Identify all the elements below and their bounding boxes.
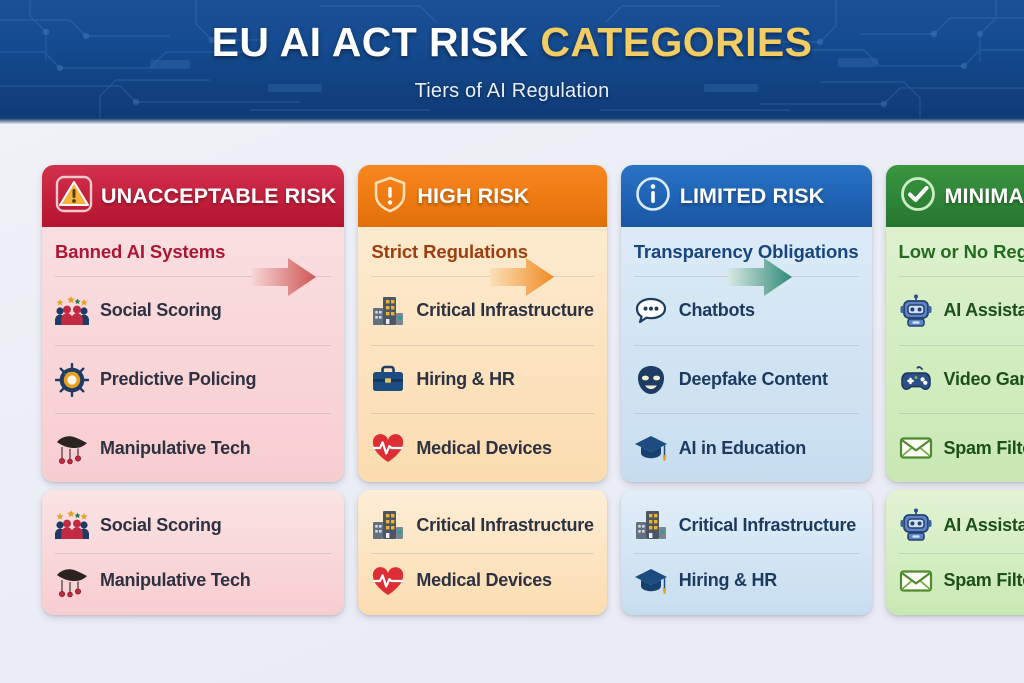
- risk-subcard-unacceptable[interactable]: Social Scoring Manipulative Tech: [42, 490, 344, 615]
- list-item[interactable]: Deepfake Content: [634, 345, 859, 414]
- list-item-label: Social Scoring: [100, 515, 222, 536]
- risk-header-band-high: HIGH RISK: [358, 165, 606, 227]
- list-item[interactable]: Video Games: [899, 345, 1024, 414]
- risk-columns-grid: UNACCEPTABLE RISKBanned AI Systems Socia…: [42, 165, 994, 615]
- briefcase-icon: [371, 363, 405, 397]
- risk-subcard-minimal[interactable]: AI Assistants Spam Filters: [886, 490, 1024, 615]
- risk-level-label: UNACCEPTABLE RISK: [101, 184, 336, 209]
- regulation-subheading: Transparency Obligations: [634, 227, 859, 276]
- shield-exclamation-icon: [370, 174, 410, 214]
- list-item[interactable]: AI Assistants: [899, 498, 1024, 553]
- list-item-label: Hiring & HR: [416, 369, 514, 390]
- list-item-label: Hiring & HR: [679, 570, 777, 591]
- mask-icon: [634, 363, 668, 397]
- info-circle-icon: [633, 174, 673, 219]
- chat-bubble-icon: [634, 294, 668, 328]
- envelope-icon: [899, 564, 933, 598]
- check-circle-icon: [898, 174, 938, 214]
- list-item-label: Critical Infrastructure: [416, 515, 593, 536]
- buildings-icon: [634, 508, 668, 542]
- svg-text:▪: ▪: [74, 370, 75, 374]
- gamepad-icon: [899, 363, 933, 397]
- chat-bubble-icon: [634, 294, 668, 328]
- risk-card-minimal[interactable]: MINIMAL RISKLow or No Regulation AI Assi…: [886, 165, 1024, 482]
- people-stars-icon: [55, 294, 89, 328]
- list-item[interactable]: AI in Education: [634, 413, 859, 482]
- risk-column-unacceptable: UNACCEPTABLE RISKBanned AI Systems Socia…: [42, 165, 344, 615]
- list-item-label: Spam Filters: [944, 438, 1024, 459]
- svg-text:▪: ▪: [77, 372, 78, 376]
- list-item[interactable]: Spam Filters: [899, 413, 1024, 482]
- gamepad-icon: [899, 363, 933, 397]
- puppet-hand-icon: [55, 564, 89, 598]
- risk-card-limited[interactable]: LIMITED RISKTransparency Obligations Cha…: [621, 165, 872, 482]
- infographic-canvas: EU AI ACT RISK CATEGORIES Tiers of AI Re…: [0, 0, 1024, 683]
- list-item[interactable]: Critical Infrastructure: [371, 276, 593, 345]
- list-item-label: Critical Infrastructure: [416, 300, 593, 321]
- heart-pulse-icon: [371, 431, 405, 465]
- people-stars-icon: [55, 294, 89, 328]
- list-item-label: Spam Filters: [944, 570, 1024, 591]
- regulation-subheading: Strict Regulations: [371, 227, 593, 276]
- page-title: EU AI ACT RISK CATEGORIES: [212, 22, 813, 63]
- list-item[interactable]: Hiring & HR: [634, 553, 859, 608]
- svg-text:▪: ▪: [68, 370, 69, 374]
- risk-level-label: MINIMAL RISK: [945, 184, 1024, 209]
- page-subtitle: Tiers of AI Regulation: [415, 80, 610, 103]
- list-item-label: Medical Devices: [416, 570, 551, 591]
- heart-pulse-icon: [371, 564, 405, 598]
- example-list: Chatbots Deepfake Content AI in Educatio…: [634, 276, 859, 482]
- list-item[interactable]: Hiring & HR: [371, 345, 593, 414]
- list-item-label: AI Assistants: [944, 515, 1024, 536]
- puppet-hand-icon: [55, 431, 89, 465]
- graduation-cap-icon: [634, 431, 668, 465]
- people-stars-icon: [55, 508, 89, 542]
- regulation-subheading: Banned AI Systems: [55, 227, 331, 276]
- example-list: Critical Infrastructure Hiring & HR Medi…: [371, 276, 593, 482]
- list-item[interactable]: Manipulative Tech: [55, 553, 331, 608]
- list-item[interactable]: Medical Devices: [371, 413, 593, 482]
- list-item-label: Manipulative Tech: [100, 570, 250, 591]
- heart-pulse-icon: [371, 431, 405, 465]
- risk-column-minimal: MINIMAL RISKLow or No Regulation AI Assi…: [886, 165, 1024, 615]
- graduation-cap-icon: [634, 564, 668, 598]
- puppet-hand-icon: [55, 431, 89, 465]
- list-item-label: Critical Infrastructure: [679, 515, 856, 536]
- risk-card-body-unacceptable: Banned AI Systems Social Scoring ▪▪ ▪▪Pr…: [42, 227, 344, 482]
- police-badge-icon: ▪▪ ▪▪: [55, 363, 89, 397]
- check-circle-icon: [898, 174, 938, 219]
- list-item-label: AI Assistants: [944, 300, 1024, 321]
- risk-card-body-high: Strict Regulations Critical Infrastructu…: [358, 227, 606, 482]
- list-item-label: Medical Devices: [416, 438, 551, 459]
- risk-column-limited: LIMITED RISKTransparency Obligations Cha…: [621, 165, 872, 615]
- example-list: Social Scoring ▪▪ ▪▪Predictive Policing …: [55, 276, 331, 482]
- police-badge-icon: ▪▪ ▪▪: [55, 363, 89, 397]
- warning-triangle-icon: [54, 174, 94, 219]
- list-item[interactable]: Social Scoring: [55, 498, 331, 553]
- list-item-label: Predictive Policing: [100, 369, 256, 390]
- robot-icon: [899, 294, 933, 328]
- regulation-subheading: Low or No Regulation: [899, 227, 1024, 276]
- buildings-icon: [371, 294, 405, 328]
- list-item[interactable]: Critical Infrastructure: [634, 498, 859, 553]
- mask-icon: [634, 363, 668, 397]
- risk-level-label: LIMITED RISK: [680, 184, 825, 209]
- warning-triangle-icon: [54, 174, 94, 214]
- list-item[interactable]: Manipulative Tech: [55, 413, 331, 482]
- robot-icon: [899, 508, 933, 542]
- graduation-cap-icon: [634, 564, 668, 598]
- risk-card-high[interactable]: HIGH RISKStrict Regulations Critical Inf…: [358, 165, 606, 482]
- risk-card-body-limited: Transparency Obligations Chatbots Deepfa…: [621, 227, 872, 482]
- envelope-icon: [899, 564, 933, 598]
- heart-pulse-icon: [371, 564, 405, 598]
- list-item-label: Deepfake Content: [679, 369, 828, 390]
- list-item[interactable]: Spam Filters: [899, 553, 1024, 608]
- risk-card-body-minimal: Low or No Regulation AI Assistants Video…: [886, 227, 1024, 482]
- graduation-cap-icon: [634, 431, 668, 465]
- risk-level-label: HIGH RISK: [417, 184, 529, 209]
- risk-header-band-unacceptable: UNACCEPTABLE RISK: [42, 165, 344, 227]
- list-item[interactable]: AI Assistants: [899, 276, 1024, 345]
- info-circle-icon: [633, 174, 673, 214]
- list-item-label: Chatbots: [679, 300, 755, 321]
- buildings-icon: [371, 294, 405, 328]
- robot-icon: [899, 508, 933, 542]
- shield-exclamation-icon: [370, 174, 410, 219]
- buildings-icon: [371, 508, 405, 542]
- buildings-icon: [371, 508, 405, 542]
- list-item[interactable]: Chatbots: [634, 276, 859, 345]
- list-item-label: Video Games: [944, 369, 1024, 390]
- risk-subcard-high[interactable]: Critical Infrastructure Medical Devices: [358, 490, 606, 615]
- example-list: AI Assistants Video Games Spam Filters: [899, 276, 1024, 482]
- list-item-label: Manipulative Tech: [100, 438, 250, 459]
- title-gold-part: CATEGORIES: [540, 19, 812, 65]
- envelope-icon: [899, 431, 933, 465]
- envelope-icon: [899, 431, 933, 465]
- risk-card-unacceptable[interactable]: UNACCEPTABLE RISKBanned AI Systems Socia…: [42, 165, 344, 482]
- robot-icon: [899, 294, 933, 328]
- list-item[interactable]: Social Scoring: [55, 276, 331, 345]
- people-stars-icon: [55, 508, 89, 542]
- title-white-part: EU AI ACT RISK: [212, 19, 529, 65]
- list-item[interactable]: ▪▪ ▪▪Predictive Policing: [55, 345, 331, 414]
- list-item[interactable]: Critical Infrastructure: [371, 498, 593, 553]
- risk-subcard-limited[interactable]: Critical Infrastructure Hiring & HR: [621, 490, 872, 615]
- svg-text:▪: ▪: [65, 372, 66, 376]
- header-banner: EU AI ACT RISK CATEGORIES Tiers of AI Re…: [0, 0, 1024, 124]
- briefcase-icon: [371, 363, 405, 397]
- list-item[interactable]: Medical Devices: [371, 553, 593, 608]
- buildings-icon: [634, 508, 668, 542]
- list-item-label: Social Scoring: [100, 300, 222, 321]
- list-item-label: AI in Education: [679, 438, 806, 459]
- risk-header-band-limited: LIMITED RISK: [621, 165, 872, 227]
- risk-column-high: HIGH RISKStrict Regulations Critical Inf…: [358, 165, 606, 615]
- risk-header-band-minimal: MINIMAL RISK: [886, 165, 1024, 227]
- puppet-hand-icon: [55, 564, 89, 598]
